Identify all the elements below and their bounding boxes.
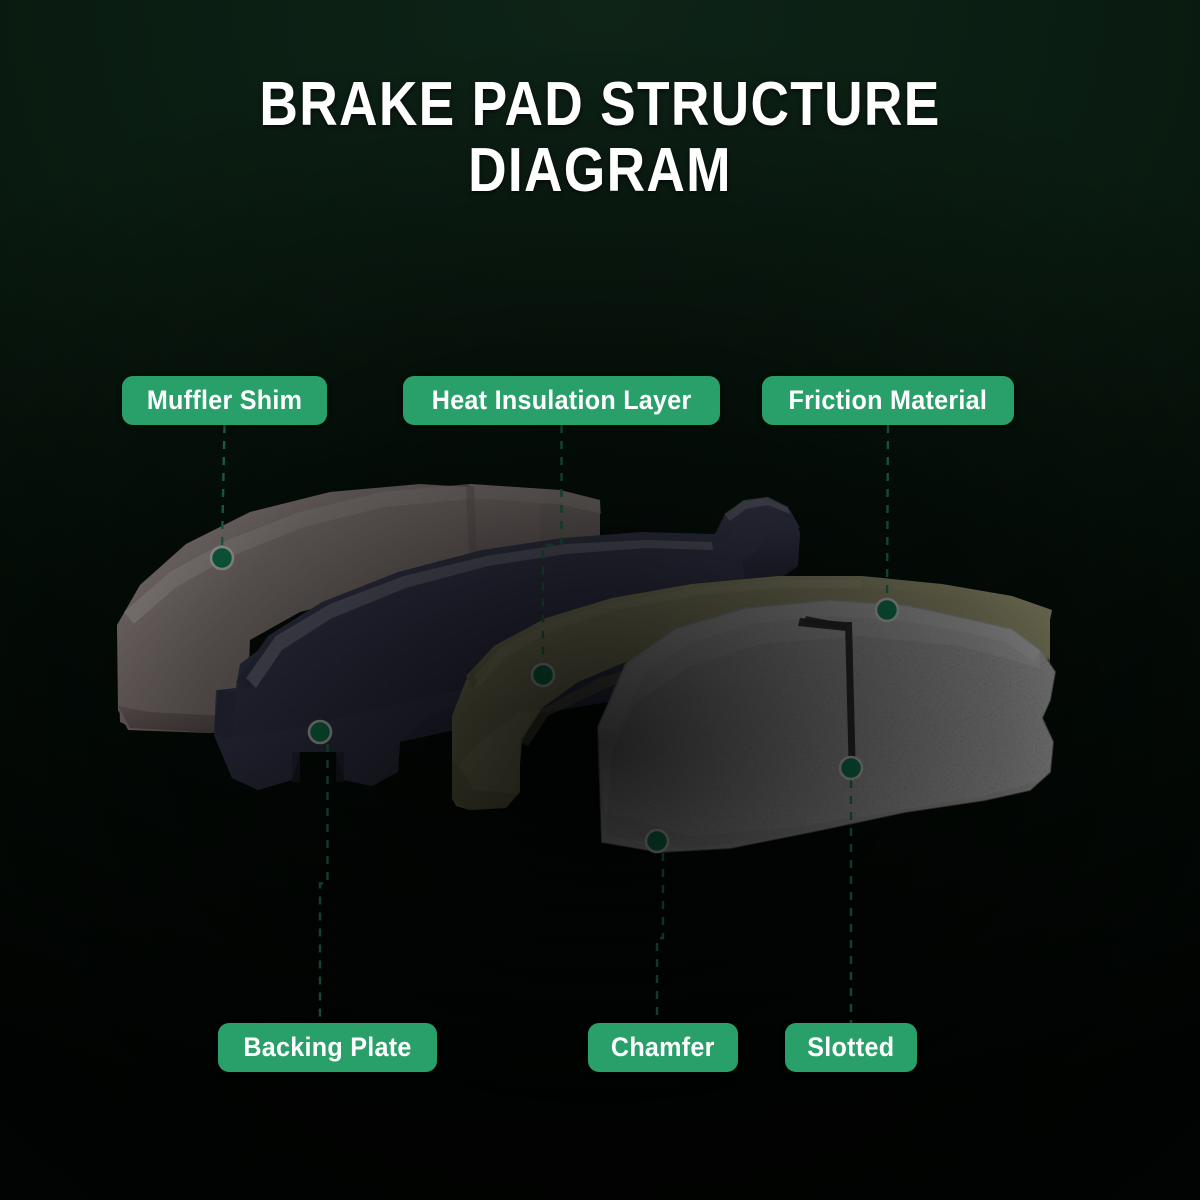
label-pill-text: Heat Insulation Layer: [432, 387, 692, 414]
exploded-brake-pad-illustration: [0, 0, 1200, 1200]
label-pill-text: Muffler Shim: [147, 387, 302, 414]
label-pill-friction-material[interactable]: Friction Material: [762, 376, 1014, 425]
label-pill-muffler-shim[interactable]: Muffler Shim: [122, 376, 327, 425]
dot-circle: [309, 721, 331, 743]
label-pill-backing-plate[interactable]: Backing Plate: [218, 1023, 437, 1072]
leader-dot-backing-plate[interactable]: [309, 721, 331, 743]
dot-circle: [646, 830, 668, 852]
dot-circle: [532, 664, 554, 686]
dot-circle: [840, 757, 862, 779]
leader-dot-heat-insulation-layer[interactable]: [532, 664, 554, 686]
label-pill-heat-insulation-layer[interactable]: Heat Insulation Layer: [403, 376, 720, 425]
dot-circle: [876, 599, 898, 621]
leader-line-backing-plate: [320, 744, 328, 1023]
label-pill-text: Slotted: [807, 1034, 894, 1061]
label-pill-text: Backing Plate: [243, 1034, 411, 1061]
leader-line-chamfer: [657, 853, 663, 1023]
label-pill-slotted[interactable]: Slotted: [785, 1023, 917, 1072]
label-pill-text: Chamfer: [611, 1034, 715, 1061]
label-pill-text: Friction Material: [788, 387, 987, 414]
leader-line-friction-material: [887, 425, 888, 600]
leader-dot-chamfer[interactable]: [646, 830, 668, 852]
leader-dot-slotted[interactable]: [840, 757, 862, 779]
dot-circle: [211, 547, 233, 569]
leader-dot-friction-material[interactable]: [876, 599, 898, 621]
brake-pad-structure-diagram: BRAKE PAD STRUCTURE DIAGRAM Muffler Shim…: [0, 0, 1200, 1200]
leader-dot-muffler-shim[interactable]: [211, 547, 233, 569]
label-pill-chamfer[interactable]: Chamfer: [588, 1023, 738, 1072]
